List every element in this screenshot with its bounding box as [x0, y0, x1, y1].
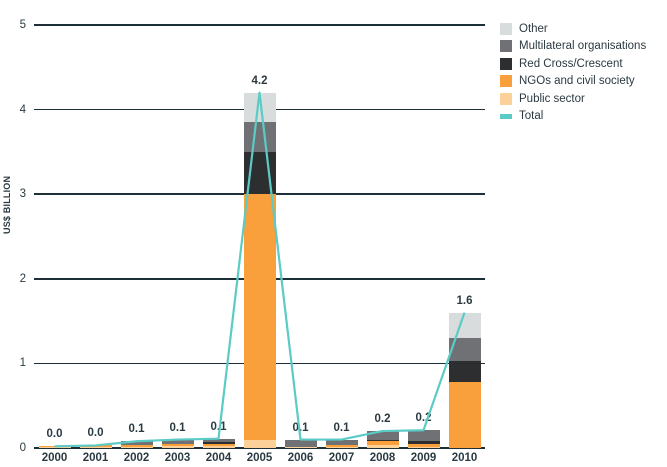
legend-item-label: Other	[519, 23, 548, 35]
legend-swatch-icon	[500, 58, 512, 70]
total-line-path	[55, 93, 465, 447]
y-tick-label: 4	[4, 105, 26, 115]
y-tick-label: 5	[4, 20, 26, 30]
legend-item-other[interactable]: Other	[500, 20, 665, 38]
legend-swatch-icon	[500, 75, 512, 87]
y-axis-title: US$ BILLION	[2, 134, 12, 234]
legend-swatch-icon	[500, 23, 512, 35]
plot-area: 0.00.00.10.10.14.20.10.10.20.21.6	[34, 25, 485, 448]
legend-item-label: Multilateral organisations	[519, 40, 646, 52]
legend-item-multilateral-organisations[interactable]: Multilateral organisations	[500, 38, 665, 56]
legend-item-ngos-and-civil-society[interactable]: NGOs and civil society	[500, 73, 665, 91]
legend-item-public-sector[interactable]: Public sector	[500, 90, 665, 108]
legend-item-total[interactable]: Total	[500, 108, 665, 126]
legend-swatch-icon	[500, 93, 512, 105]
legend-item-label: Red Cross/Crescent	[519, 58, 623, 70]
total-line	[34, 25, 485, 448]
y-tick-label: 2	[4, 274, 26, 284]
legend-item-red-cross-crescent[interactable]: Red Cross/Crescent	[500, 55, 665, 73]
y-tick-label: 1	[4, 358, 26, 368]
y-tick-label: 3	[4, 189, 26, 199]
legend-line-icon	[500, 114, 512, 119]
legend-item-label: Public sector	[519, 93, 585, 105]
chart-legend: OtherMultilateral organisationsRed Cross…	[500, 20, 665, 125]
stacked-bar-chart: US$ BILLION 012345 0.00.00.10.10.14.20.1…	[0, 0, 667, 467]
legend-swatch-icon	[500, 40, 512, 52]
x-tick-label: 2010	[435, 452, 495, 464]
y-tick-label: 0	[4, 443, 26, 453]
legend-item-label: Total	[519, 110, 543, 122]
legend-item-label: NGOs and civil society	[519, 75, 635, 87]
